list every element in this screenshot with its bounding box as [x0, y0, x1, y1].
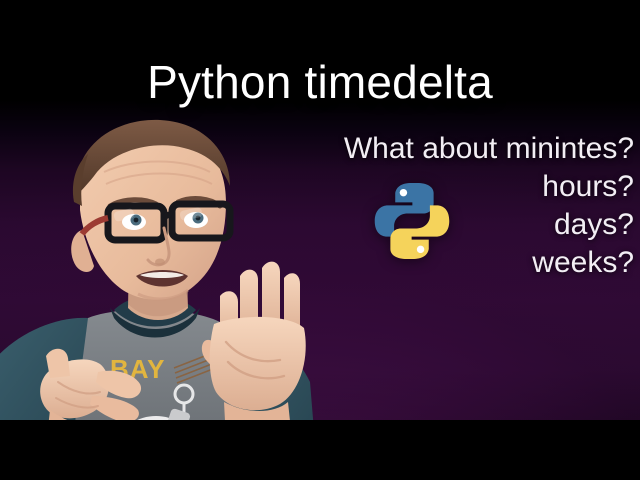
presenter-head	[71, 120, 230, 300]
page-title: Python timedelta	[0, 58, 640, 106]
question-line-4: weeks?	[344, 248, 634, 278]
video-thumbnail: BAY	[0, 0, 640, 480]
question-overlay: What about minintes? hours? days? weeks?	[344, 134, 634, 278]
question-line-1: What about minintes?	[344, 134, 634, 164]
letterbox-bar-top	[0, 0, 640, 24]
letterbox-bar-bottom	[0, 420, 640, 480]
question-line-2: hours?	[344, 172, 634, 202]
question-line-3: days?	[344, 210, 634, 240]
